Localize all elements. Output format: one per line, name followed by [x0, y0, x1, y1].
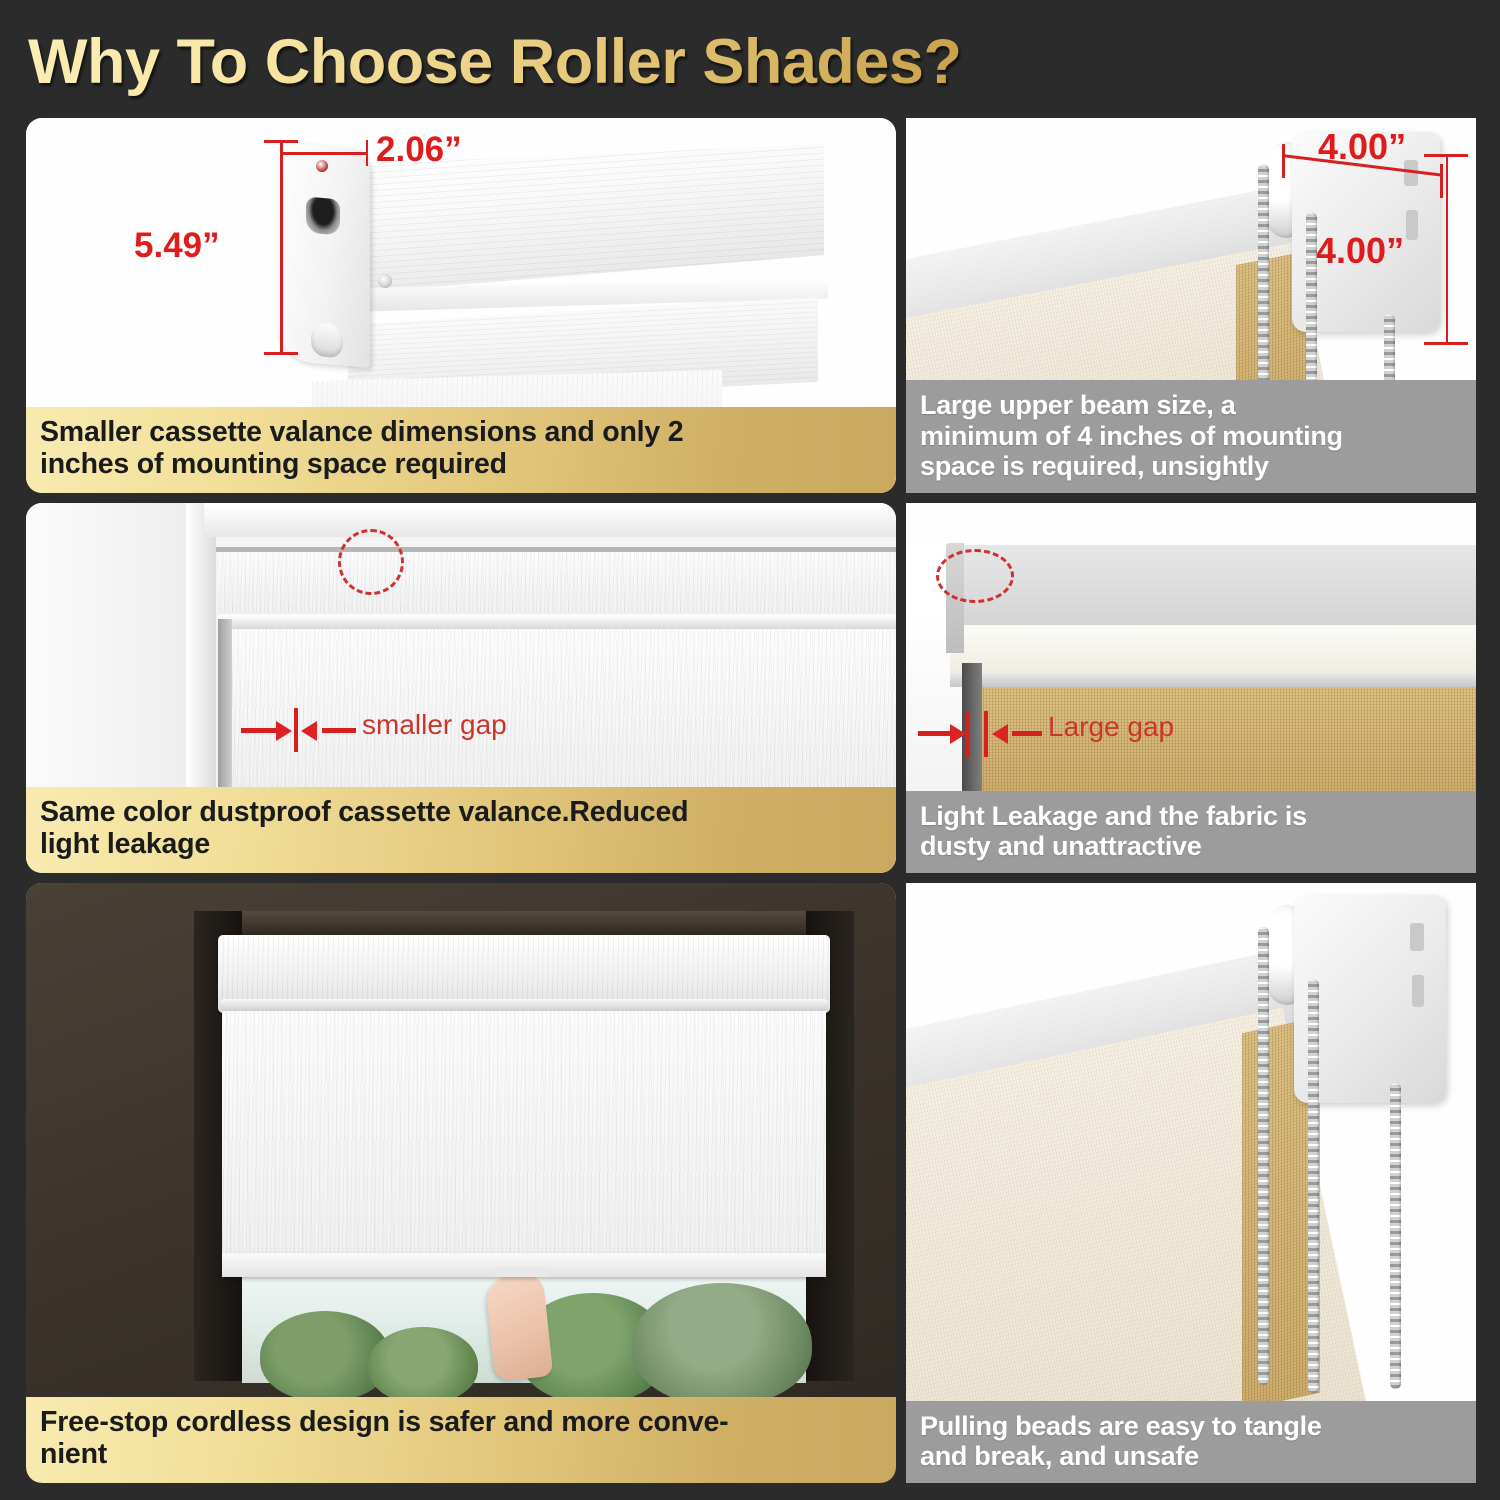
cassette-lip — [218, 615, 896, 629]
end-cap-screw-top — [316, 160, 328, 172]
bead-chain-right — [1390, 1083, 1401, 1389]
callout-circle — [338, 529, 404, 595]
caption-line-2: minimum of 4 inches of mounting — [920, 421, 1462, 451]
panel-2-caption: Large upper beam size, a minimum of 4 in… — [906, 380, 1476, 493]
bead-chain-left — [1258, 164, 1269, 404]
callout-circle — [936, 549, 1014, 603]
caption-line-1: Same color dustproof cassette valance.Re… — [40, 797, 882, 829]
gap-callout-label: smaller gap — [362, 709, 507, 741]
height-dim-tick-top — [264, 140, 298, 143]
caption-line-1: Light Leakage and the fabric is — [920, 801, 1462, 831]
height-dim-tick-bottom — [264, 352, 298, 355]
gap-arrow-right-head — [992, 724, 1008, 744]
window-frame-left — [26, 503, 204, 795]
page-title-text: Why To Choose Roller Shades? — [28, 26, 961, 98]
shade-pull-tab — [494, 1267, 550, 1277]
width-dim-line — [280, 152, 368, 155]
panel-same-color-dustproof: smaller gap Same color dustproof cassett… — [26, 503, 896, 873]
wall-upper — [906, 503, 1476, 545]
gap-marker-bar-left — [966, 711, 970, 757]
caption-line-1: Large upper beam size, a — [920, 390, 1462, 420]
caption-line-2: inches of mounting space required — [40, 449, 882, 481]
bracket-notch-bottom — [1406, 210, 1418, 240]
gap-marker-bar-right — [984, 711, 988, 757]
cassette-top-shadow-line — [216, 547, 896, 552]
height-dim-tick-top — [1424, 154, 1468, 157]
gap-arrow-right-head — [301, 721, 317, 741]
gap-arrow-left-head — [276, 721, 292, 741]
gap-arrow-right-shaft — [322, 728, 356, 733]
end-cap-screw-bottom — [378, 274, 392, 288]
caption-line-2: dusty and unattractive — [920, 831, 1462, 861]
hand-grabbing-shade — [485, 1272, 554, 1381]
panel-5-caption: Free-stop cordless design is safer and m… — [26, 1397, 896, 1483]
height-dimension-label: 5.49” — [134, 226, 220, 266]
caption-line-1: Pulling beads are easy to tangle — [920, 1411, 1462, 1441]
caption-line-1: Smaller cassette valance dimensions and … — [40, 417, 882, 449]
window-head-trim — [194, 911, 854, 937]
panel-large-upper-beam: 4.00” 4.00” Large upper beam size, a min… — [906, 118, 1476, 493]
caption-line-2: nient — [40, 1439, 882, 1471]
gap-arrow-left-shaft — [241, 728, 279, 733]
height-dim-tick-bottom — [1424, 342, 1468, 345]
bead-chain-left — [1258, 927, 1269, 1385]
valance-bottom-edge — [950, 673, 1476, 687]
caption-line-3: space is required, unsightly — [920, 451, 1462, 481]
bead-chain-middle — [1308, 979, 1319, 1393]
panel-smaller-cassette: 2.06” 5.49” Smaller cassette valance dim… — [26, 118, 896, 493]
shade-fabric — [222, 629, 896, 795]
cassette-lip — [220, 999, 828, 1011]
gap-callout-label: Large gap — [1048, 711, 1174, 743]
width-dim-tick-left — [1282, 144, 1285, 178]
bracket-notch-top — [1410, 923, 1424, 951]
panel-light-leakage: Large gap Light Leakage and the fabric i… — [906, 503, 1476, 873]
gap-arrow-left-head — [950, 724, 966, 744]
caption-line-1: Free-stop cordless design is safer and m… — [40, 1407, 882, 1439]
tree-right — [632, 1283, 812, 1405]
panel-1-caption: Smaller cassette valance dimensions and … — [26, 407, 896, 493]
height-dim-line — [1446, 154, 1448, 344]
width-dim-tick-right — [1440, 164, 1443, 198]
width-dimension-label: 4.00” — [1318, 126, 1406, 168]
width-dimension-label: 2.06” — [376, 130, 462, 170]
bracket-notch-bottom — [1412, 975, 1424, 1007]
caption-line-2: and break, and unsafe — [920, 1441, 1462, 1471]
cassette-valance-face — [218, 547, 896, 613]
valance-lower-band — [950, 625, 1476, 677]
infographic-page: Why To Choose Roller Shades? — [0, 0, 1500, 1500]
panel-4-caption: Light Leakage and the fabric is dusty an… — [906, 791, 1476, 873]
panel-6-artwork — [906, 883, 1476, 1483]
shade-side-edge — [218, 619, 232, 795]
height-dimension-label: 4.00” — [1316, 230, 1404, 272]
shade-fabric — [222, 1011, 826, 1269]
panel-cordless-design: Free-stop cordless design is safer and m… — [26, 883, 896, 1483]
valance-top-bar — [950, 545, 1476, 631]
panel-6-caption: Pulling beads are easy to tangle and bre… — [906, 1401, 1476, 1483]
page-title: Why To Choose Roller Shades? — [28, 20, 1468, 104]
panel-pulling-beads: Pulling beads are easy to tangle and bre… — [906, 883, 1476, 1483]
caption-line-2: light leakage — [40, 829, 882, 861]
gap-marker-bar — [294, 708, 298, 752]
height-dim-line — [280, 140, 283, 355]
end-cap-slot — [306, 197, 340, 236]
window-frame-head — [204, 503, 896, 537]
tree-left-2 — [368, 1327, 478, 1403]
gap-arrow-left-shaft — [918, 731, 952, 736]
panel-5-artwork — [26, 883, 896, 1483]
window-frame-edge — [186, 503, 216, 795]
gap-arrow-right-shaft — [1012, 731, 1042, 736]
comparison-grid: 2.06” 5.49” Smaller cassette valance dim… — [0, 108, 1500, 1493]
panel-3-caption: Same color dustproof cassette valance.Re… — [26, 787, 896, 873]
